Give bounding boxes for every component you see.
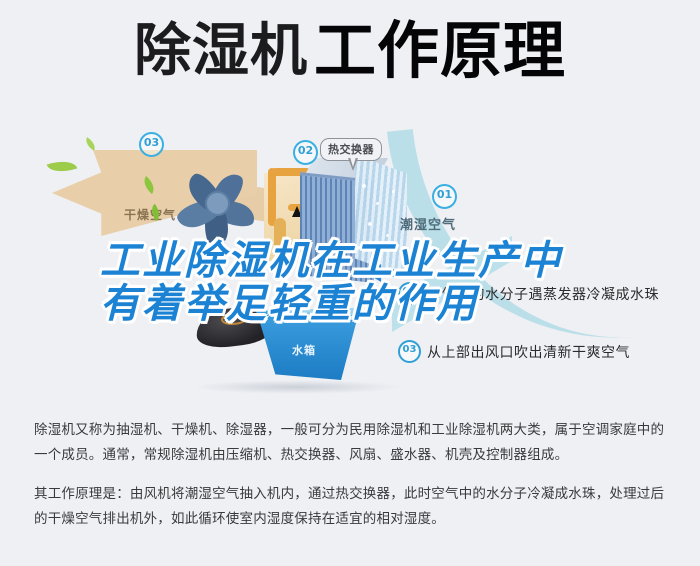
badge-02: 02 — [293, 140, 318, 165]
water-droplet — [368, 222, 372, 226]
article-body: 除湿机又称为抽湿机、干燥机、除湿器，一般可分为民用除湿机和工业除湿机两大类，属于… — [34, 418, 674, 532]
body-paragraph-1: 除湿机又称为抽湿机、干燥机、除湿器，一般可分为民用除湿机和工业除湿机两大类，属于… — [34, 418, 674, 468]
page-title: 除湿机工作原理 — [0, 20, 700, 82]
dehumidifier-diagram: 干燥空气 — [0, 118, 700, 408]
water-droplet — [386, 234, 389, 237]
infographic-page: 除湿机工作原理 干燥空气 — [0, 0, 700, 566]
water-droplet — [362, 184, 366, 188]
badge-01: 01 — [432, 184, 457, 209]
leaf-icon — [47, 156, 78, 177]
page-title-part1: 除湿机 — [134, 18, 308, 84]
dry-air-label: 干燥空气 — [124, 206, 176, 223]
copper-tank — [274, 218, 286, 252]
water-droplet — [356, 246, 360, 250]
fan-illustration — [178, 166, 270, 248]
note-badge-03: 03 — [398, 340, 421, 363]
note-text-03: 从上部出风口吹出清新干爽空气 — [427, 342, 630, 362]
water-tank-label: 水箱 — [292, 342, 316, 358]
ground-shadow — [192, 380, 402, 394]
diagram-note-03: 03 从上部出风口吹出清新干爽空气 — [398, 340, 630, 363]
compressor-ring — [220, 310, 249, 326]
callout-pointer-icon — [348, 158, 358, 171]
note-badge-02: 02 — [398, 282, 421, 305]
humid-air-label: 潮湿空气 — [400, 214, 456, 233]
copper-pipe — [268, 168, 276, 226]
page-title-part2: 工作原理 — [314, 14, 566, 87]
diagram-note-02: 02 空气中的水分子遇蒸发器冷凝成水珠 — [398, 282, 659, 305]
fan-hub — [205, 191, 230, 216]
badge-03: 03 — [139, 132, 164, 157]
water-droplet — [376, 202, 379, 205]
body-paragraph-2: 其工作原理是：由风机将潮湿空气抽入机内，通过热交换器，此时空气中的水分子冷凝成水… — [34, 482, 674, 532]
water-droplet — [392, 190, 395, 193]
leaf-icon — [83, 137, 98, 151]
note-text-02: 空气中的水分子遇蒸发器冷凝成水珠 — [427, 284, 659, 304]
